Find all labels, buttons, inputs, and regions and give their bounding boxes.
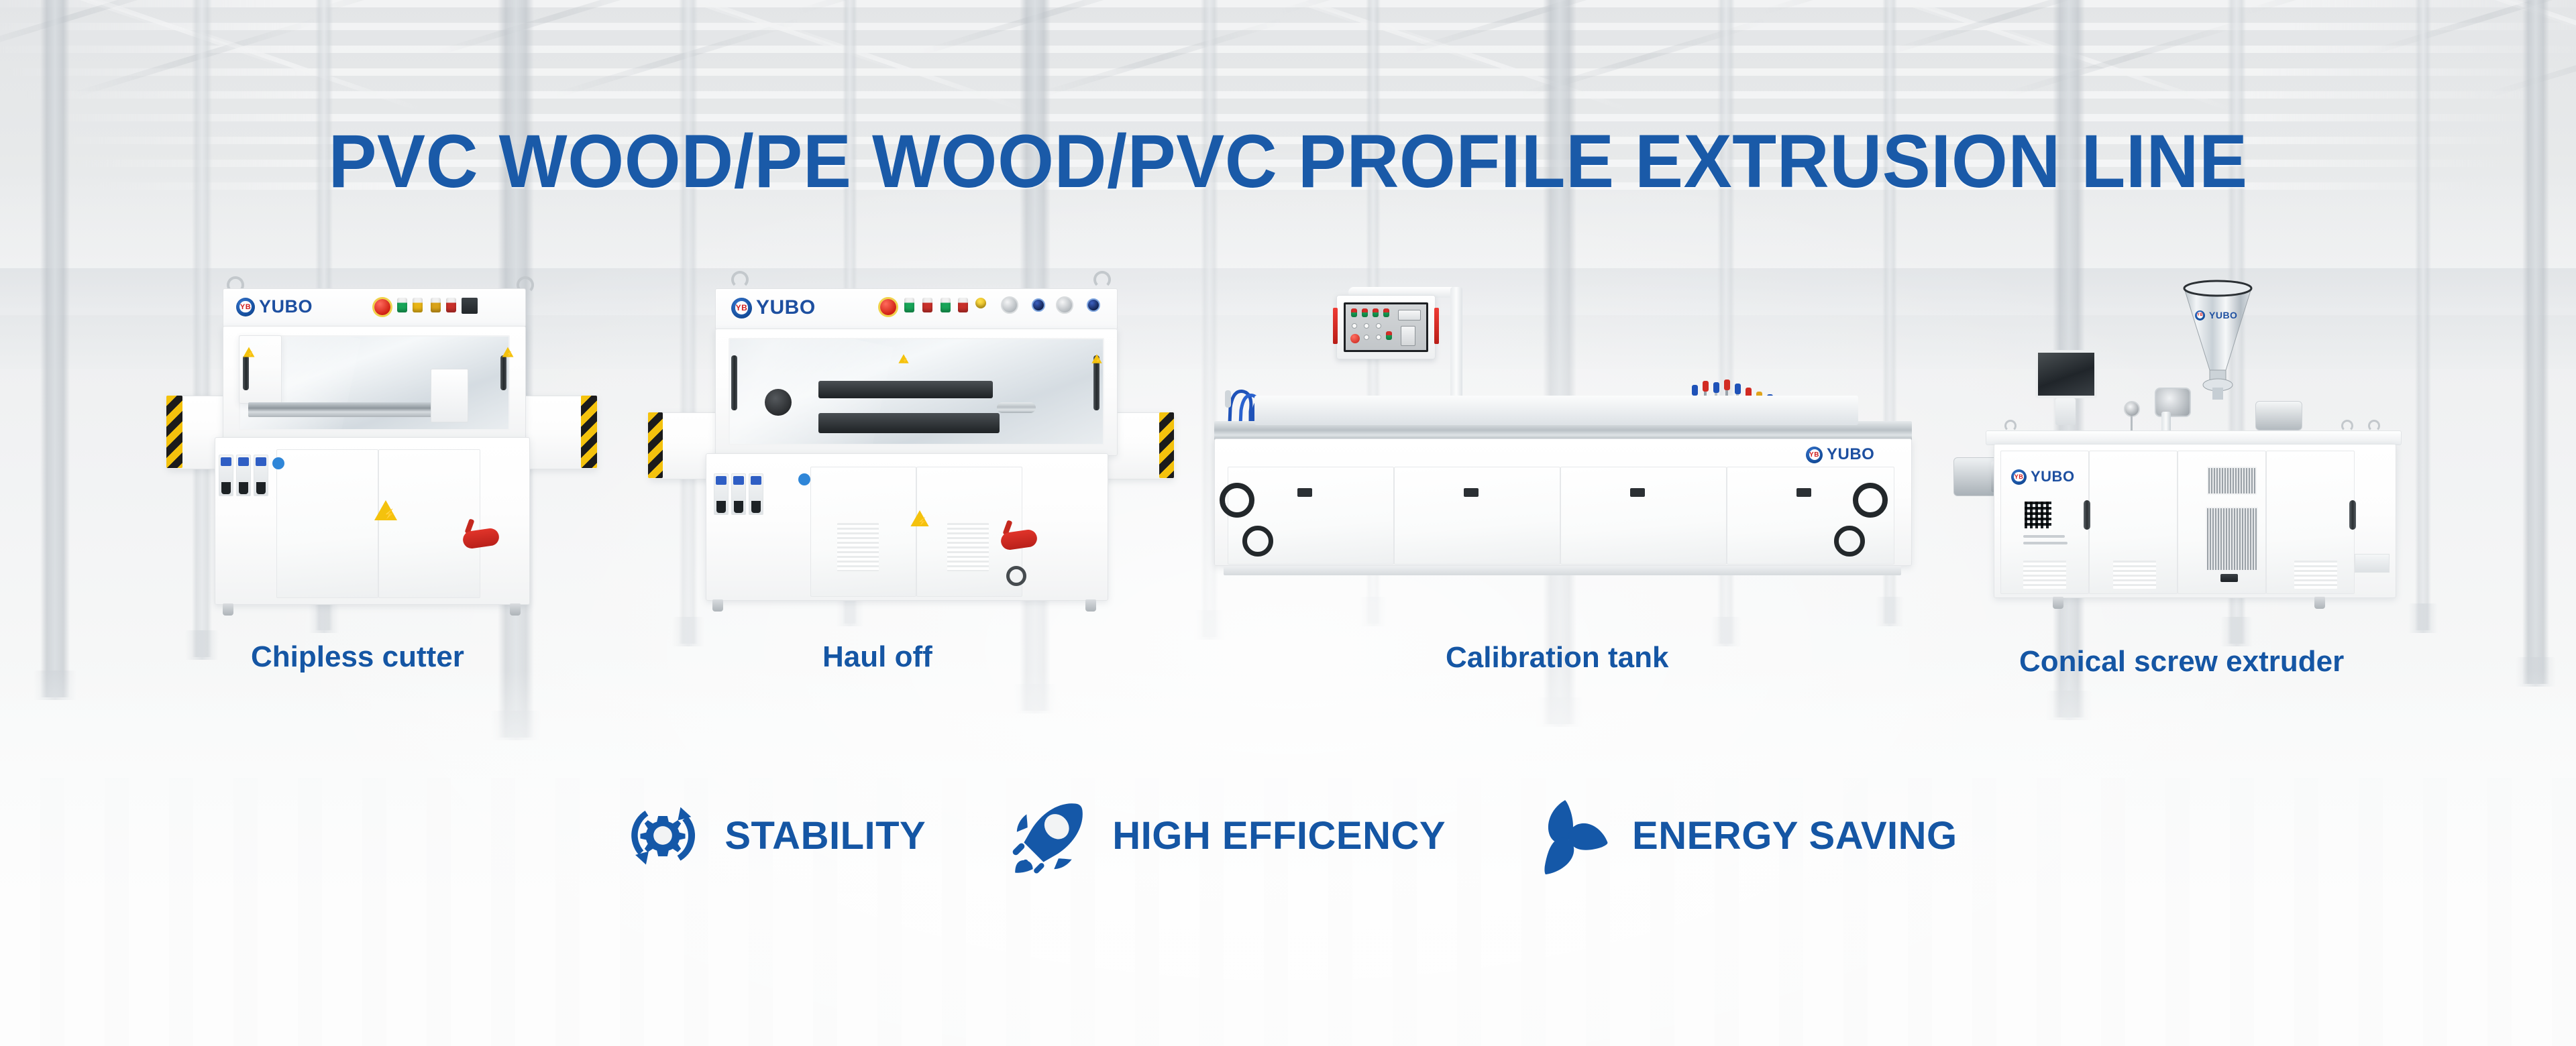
lower-caterpillar-track <box>818 413 1000 433</box>
control-display[interactable] <box>462 298 478 314</box>
hazard-stripe <box>166 396 182 468</box>
cooling-grille-main <box>2206 507 2258 571</box>
air-regulator <box>749 473 763 515</box>
drive-sprocket <box>765 389 792 416</box>
warning-sign-icon: ⚡ <box>1091 354 1102 363</box>
cabinet-door-left[interactable] <box>276 449 378 598</box>
machine-foot <box>2053 597 2063 609</box>
feeder-blower <box>2155 388 2191 417</box>
yubo-gear-mark-icon <box>2011 469 2027 485</box>
tank-lid <box>1254 396 1858 425</box>
discharge-chute <box>2355 554 2390 573</box>
warning-sign-icon: ⚡ <box>244 347 255 357</box>
ventilation-louver <box>2294 561 2337 589</box>
machine-foot <box>223 603 233 616</box>
handwheel-small[interactable] <box>1834 526 1865 557</box>
hazard-stripe <box>648 412 663 478</box>
control-panel-face <box>1344 302 1428 352</box>
machine-conical-screw-extruder[interactable]: YUBO YUBO <box>1966 268 2435 617</box>
door-handle[interactable] <box>243 355 249 390</box>
panel-button[interactable] <box>1364 323 1369 329</box>
handwheel-large[interactable] <box>1853 483 1888 518</box>
feature-high-efficiency[interactable]: HIGH EFFICENCY <box>1006 791 1446 880</box>
emergency-stop-button[interactable] <box>374 299 390 315</box>
indicator-lamp-red <box>922 298 932 312</box>
feature-label-energy-saving: ENERGY SAVING <box>1632 813 1957 858</box>
air-lubricator <box>731 473 746 515</box>
pressure-gauge <box>1056 296 1073 314</box>
brand-name: YUBO <box>1827 445 1874 464</box>
electrical-hazard-sign-icon: ⚡ <box>910 510 928 526</box>
control-knob[interactable] <box>1032 298 1045 312</box>
tank-plinth <box>1224 566 1901 575</box>
contact-line <box>2023 535 2065 538</box>
cutting-table <box>248 402 436 417</box>
feature-energy-saving[interactable]: ENERGY SAVING <box>1526 791 1957 880</box>
cabinet-door-right[interactable] <box>378 449 480 598</box>
machine-foot <box>2314 597 2325 609</box>
indicator-lamp-green <box>941 298 951 312</box>
door-latch[interactable] <box>1630 488 1645 497</box>
contact-line <box>2023 542 2068 544</box>
hopper-brand-logo: YUBO <box>2195 310 2237 321</box>
machine-label-chipless-cutter: Chipless cutter <box>251 640 464 674</box>
warning-sign-icon: ⚡ <box>898 354 908 363</box>
ventilation-louver <box>947 523 989 571</box>
machine-foot <box>712 599 723 612</box>
hmi-monitor[interactable] <box>2035 350 2097 398</box>
pneumatic-indicator <box>798 473 810 485</box>
lifting-hook-icon <box>2341 420 2353 432</box>
machine-foot <box>1085 599 1096 612</box>
lifting-hook-icon <box>1093 271 1111 288</box>
panel-lamp-green <box>1383 308 1389 317</box>
lifting-hook-icon <box>2368 420 2380 432</box>
door-handle[interactable] <box>2349 500 2356 530</box>
brand-logo-yubo: YUBO <box>1806 445 1874 464</box>
indicator-lamp-yellow <box>413 298 423 312</box>
yubo-gear-mark-icon <box>731 298 752 318</box>
door-latch[interactable] <box>1796 488 1811 497</box>
panel-switch[interactable] <box>1401 326 1415 346</box>
page-title: PVC WOOD/PE WOOD/PVC PROFILE EXTRUSION L… <box>45 118 2531 205</box>
ac-controller-display[interactable] <box>2220 574 2238 582</box>
pressure-gauge <box>2124 401 2140 417</box>
electrical-hazard-sign-icon: ⚡ <box>374 500 397 520</box>
machine-haul-off[interactable]: YUBO ⚡ ⚡ ⚡ <box>691 282 1161 617</box>
air-regulator <box>254 455 268 496</box>
panel-button[interactable] <box>1352 323 1357 329</box>
lifting-hook-icon <box>731 271 749 288</box>
door-handle[interactable] <box>1093 355 1099 410</box>
panel-side-strip <box>1333 308 1338 344</box>
hopper-icon <box>2180 278 2255 401</box>
machine-calibration-tank[interactable]: YUBO Calibration tank <box>1214 295 1939 617</box>
indicator-lamp-green <box>397 298 407 312</box>
panel-side-strip <box>1434 308 1439 344</box>
panel-button[interactable] <box>1376 335 1381 340</box>
air-lubricator <box>236 455 251 496</box>
feature-label-stability: STABILITY <box>724 813 926 858</box>
extruder-deck <box>1986 430 2402 445</box>
indicator-lamp-green <box>904 298 914 312</box>
feature-strip: STABILITY HIGH EFFICENCY <box>0 791 2576 880</box>
brand-name: YUBO <box>259 296 313 317</box>
brand-logo-yubo: YUBO <box>2011 468 2075 485</box>
cooling-grille-top <box>2207 467 2257 495</box>
tank-door-3[interactable] <box>1560 467 1727 565</box>
handwheel-large[interactable] <box>1220 483 1254 518</box>
panel-lamp-green <box>1373 308 1379 317</box>
brand-name: YUBO <box>756 296 816 319</box>
suspended-control-panel[interactable] <box>1336 295 1436 359</box>
hazard-stripe <box>1159 412 1174 478</box>
machine-label-haul-off: Haul off <box>822 640 932 674</box>
air-filter-regulator <box>219 455 233 496</box>
door-handle[interactable] <box>2084 500 2090 530</box>
ventilation-louver <box>2023 561 2066 589</box>
machine-label-conical-screw-extruder: Conical screw extruder <box>2019 645 2344 679</box>
rocket-icon <box>1006 791 1095 880</box>
pressure-gauge <box>1001 296 1018 314</box>
panel-lamp-green <box>1362 308 1368 317</box>
panel-emergency-stop[interactable] <box>1350 334 1360 343</box>
yubo-gear-mark-icon <box>236 298 255 316</box>
saw-carriage <box>431 369 468 422</box>
indicator-lamp-red <box>446 298 456 312</box>
monitor-stand <box>2055 398 2076 425</box>
brand-logo-yubo: YUBO <box>731 296 816 319</box>
feature-stability[interactable]: STABILITY <box>619 791 926 880</box>
machine-chipless-cutter[interactable]: YUBO ⚡ ⚡ ⚡ <box>195 288 610 617</box>
material-hopper: YUBO <box>2180 278 2255 401</box>
door-latch[interactable] <box>1297 488 1312 497</box>
door-latch[interactable] <box>1464 488 1479 497</box>
feature-label-high-efficiency: HIGH EFFICENCY <box>1112 813 1446 858</box>
door-handle[interactable] <box>731 355 737 410</box>
control-knob[interactable] <box>1087 298 1100 312</box>
panel-lamp-green <box>1386 331 1392 340</box>
yubo-gear-mark-icon <box>1806 447 1823 463</box>
panel-button[interactable] <box>1364 335 1369 340</box>
adjustment-shaft <box>997 402 1036 413</box>
propeller-leaf-icon <box>1526 791 1615 880</box>
air-filter-regulator <box>714 473 729 515</box>
machine-label-calibration-tank: Calibration tank <box>1446 641 1669 675</box>
warning-sign-icon: ⚡ <box>502 347 514 357</box>
gear-refresh-icon <box>619 791 707 880</box>
brand-name: YUBO <box>2209 310 2237 321</box>
hazard-stripe <box>581 396 597 468</box>
handwheel-small[interactable] <box>1242 526 1273 557</box>
indicator-lamp-amber <box>431 298 441 312</box>
panel-display <box>1398 310 1421 321</box>
panel-lamp-green <box>1351 308 1357 317</box>
panel-button[interactable] <box>1376 323 1381 329</box>
handwheel[interactable] <box>1006 566 1026 586</box>
qr-code <box>2023 500 2053 530</box>
emergency-stop-button[interactable] <box>880 299 896 315</box>
tank-door-2[interactable] <box>1394 467 1560 565</box>
feeder-motor <box>2255 401 2302 430</box>
brand-logo-yubo: YUBO <box>236 296 313 317</box>
brand-name: YUBO <box>2031 468 2075 485</box>
indicator-lamp-red <box>958 298 968 312</box>
ventilation-louver <box>837 523 879 571</box>
ventilation-louver <box>2113 561 2156 589</box>
lifting-hook-icon <box>2004 420 2017 432</box>
pneumatic-indicator <box>272 457 284 469</box>
upper-caterpillar-track <box>818 381 993 398</box>
yubo-gear-mark-icon <box>2195 310 2205 321</box>
door-handle[interactable] <box>500 355 506 390</box>
machine-foot <box>510 603 521 616</box>
indicator-lamp-yellow <box>975 298 986 308</box>
